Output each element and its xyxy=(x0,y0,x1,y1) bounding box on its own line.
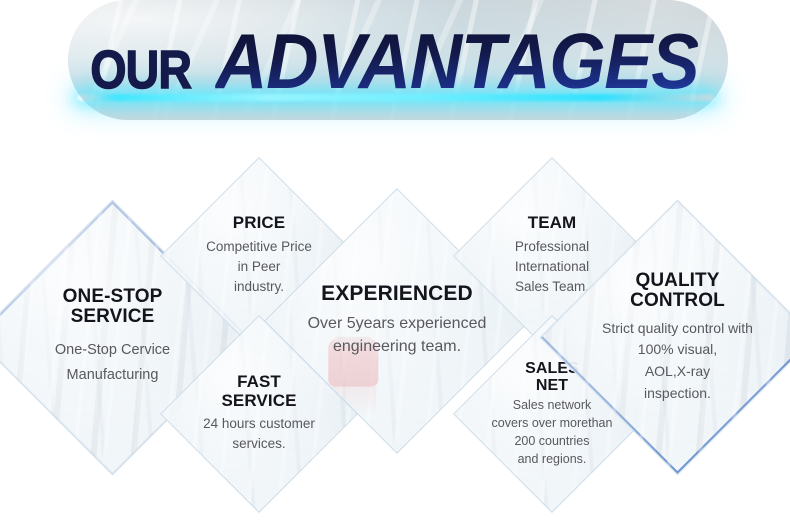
card-title: ONE-STOP SERVICE xyxy=(63,287,163,328)
card-description: One-Stop Cervice Manufacturing xyxy=(55,338,170,389)
card-title: FAST SERVICE xyxy=(221,373,296,410)
card-title: EXPERIENCED xyxy=(321,283,473,306)
card-description: Over 5years experienced engineering team… xyxy=(308,312,487,358)
card-title: PRICE xyxy=(233,214,285,232)
card-description: 24 hours customer services. xyxy=(203,414,315,455)
card-content: FAST SERVICE 24 hours customer services. xyxy=(190,345,328,483)
card-description: Sales network covers over morethan 200 c… xyxy=(492,397,613,468)
page-title-word-our: OUR xyxy=(90,43,191,97)
card-description: Strict quality control with 100% visual,… xyxy=(602,318,753,405)
page-title-word-advantages: ADVANTAGES xyxy=(215,22,698,100)
card-title: TEAM xyxy=(528,214,577,232)
card-content: QUALITY CONTROL Strict quality control w… xyxy=(581,241,774,434)
page-title: OURADVANTAGES xyxy=(0,22,790,100)
card-description: Professional International Sales Team. xyxy=(515,237,589,298)
card-title: QUALITY CONTROL xyxy=(630,271,725,312)
advantages-infographic: OURADVANTAGES ONE-STOP SERVICE One-Stop … xyxy=(0,0,790,528)
